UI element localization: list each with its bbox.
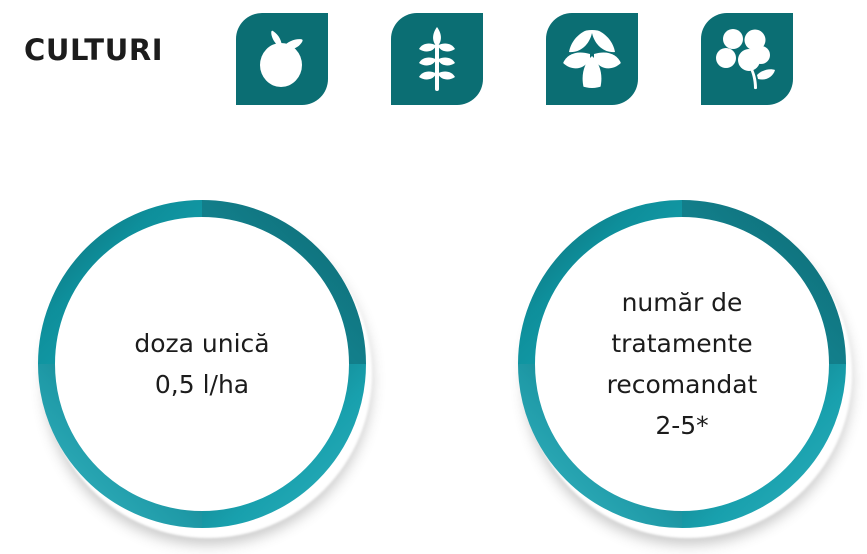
info-circle-group: doza unică 0,5 l/ha: [0, 0, 867, 554]
count-line-4: 2-5*: [655, 405, 708, 446]
count-line-2: tratamente: [611, 323, 752, 364]
treatment-count-circle: număr de tratamente recomandat 2-5*: [518, 200, 846, 528]
treatment-count-circle-text: număr de tratamente recomandat 2-5*: [518, 200, 846, 528]
dose-circle-text: doza unică 0,5 l/ha: [38, 200, 366, 528]
count-line-1: număr de: [622, 282, 743, 323]
dose-line-1: doza unică: [134, 323, 269, 364]
count-line-3: recomandat: [607, 364, 758, 405]
dose-circle: doza unică 0,5 l/ha: [38, 200, 366, 528]
dose-line-2: 0,5 l/ha: [155, 364, 249, 405]
